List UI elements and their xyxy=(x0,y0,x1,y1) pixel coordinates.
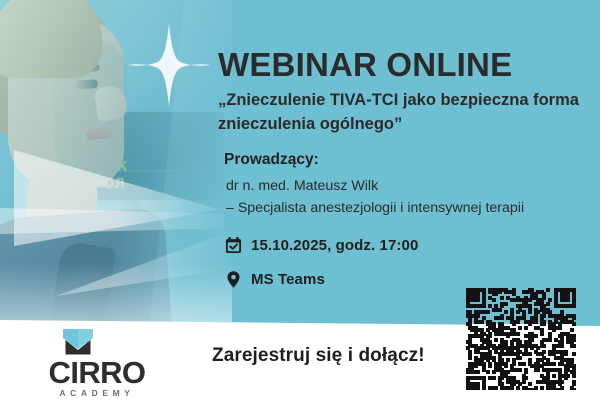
host-name: dr n. med. Mateusz Wilk xyxy=(226,176,594,198)
webinar-platform: MS Teams xyxy=(251,271,325,288)
cirro-academy-logo: CIRRO ACADEMY xyxy=(12,328,182,394)
host-details: dr n. med. Mateusz Wilk – Specjalista an… xyxy=(226,176,594,219)
webinar-poster: ЛІ ВО ЗІ РЕ 2І МК АВ ОЛ xyxy=(0,0,600,400)
host-role: – Specjalista anestezjologii i intensywn… xyxy=(226,198,594,220)
platform-row: MS Teams xyxy=(224,269,325,289)
logo-tagline: ACADEMY xyxy=(12,388,182,398)
poster-content: WEBINAR ONLINE „Znieczulenie TIVA-TCI ja… xyxy=(218,0,600,322)
host-label: Prowadzący: xyxy=(224,151,319,169)
webinar-subtitle: „Znieczulenie TIVA-TCI jako bezpieczna f… xyxy=(218,88,590,137)
logo-wordmark: CIRRO xyxy=(12,355,182,391)
chevron-mark-icon xyxy=(58,328,98,356)
date-row: 15.10.2025, godz. 17:00 xyxy=(224,235,418,255)
qr-code-icon[interactable] xyxy=(466,288,576,390)
cta-text: Zarejestruj się i dołącz! xyxy=(212,345,425,367)
map-pin-icon xyxy=(224,269,243,289)
webinar-date: 15.10.2025, godz. 17:00 xyxy=(251,237,418,254)
page-title: WEBINAR ONLINE xyxy=(218,46,512,84)
four-point-star-icon xyxy=(126,22,212,108)
calendar-check-icon xyxy=(224,235,243,255)
